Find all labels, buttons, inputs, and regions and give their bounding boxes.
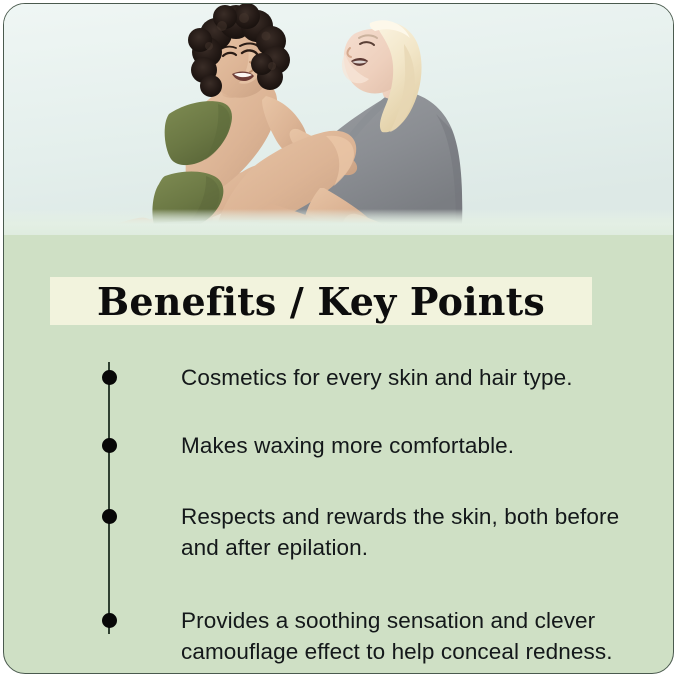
- bullet-dot-icon: [102, 438, 117, 453]
- list-item: Cosmetics for every skin and hair type.: [4, 356, 674, 376]
- benefits-card: Benefits / Key Points Cosmetics for ever…: [3, 3, 674, 674]
- page-title: Benefits / Key Points: [50, 274, 592, 328]
- list-item-label: Provides a soothing sensation and clever…: [181, 605, 641, 667]
- list-item: Makes waxing more comfortable.: [4, 376, 674, 396]
- benefits-list: Cosmetics for every skin and hair type. …: [4, 356, 674, 436]
- list-item: Respects and rewards the skin, both befo…: [4, 396, 674, 416]
- photo-floor-gradient: [4, 209, 673, 235]
- hero-photo: [4, 4, 673, 235]
- bullet-dot-icon: [102, 509, 117, 524]
- list-item-label: Respects and rewards the skin, both befo…: [181, 501, 641, 563]
- bullet-dot-icon: [102, 613, 117, 628]
- list-item: Provides a soothing sensation and clever…: [4, 416, 674, 436]
